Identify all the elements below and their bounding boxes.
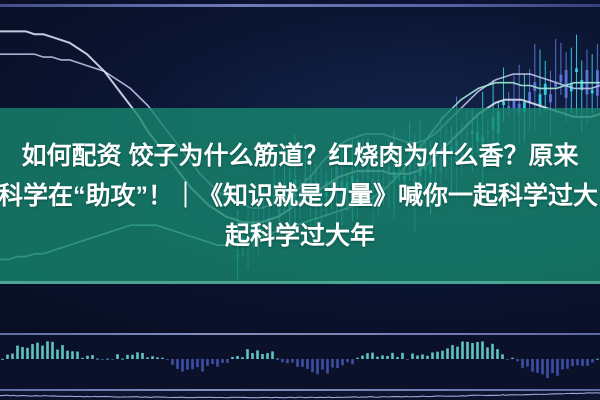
histogram-panel: [0, 335, 600, 390]
indicator-line-panel: [0, 391, 600, 400]
indicator-line-chart: [0, 391, 600, 400]
macd-histogram-chart: [0, 335, 600, 390]
top-divider-line: [0, 4, 600, 7]
green-overlay-band: [0, 108, 600, 284]
green-band-bottom-edge: [0, 281, 600, 284]
screenshot-root: 如何配资 饺子为什么筋道？红烧肉为什么香？原来 科学在“助攻”！｜《知识就是力量…: [0, 0, 600, 400]
